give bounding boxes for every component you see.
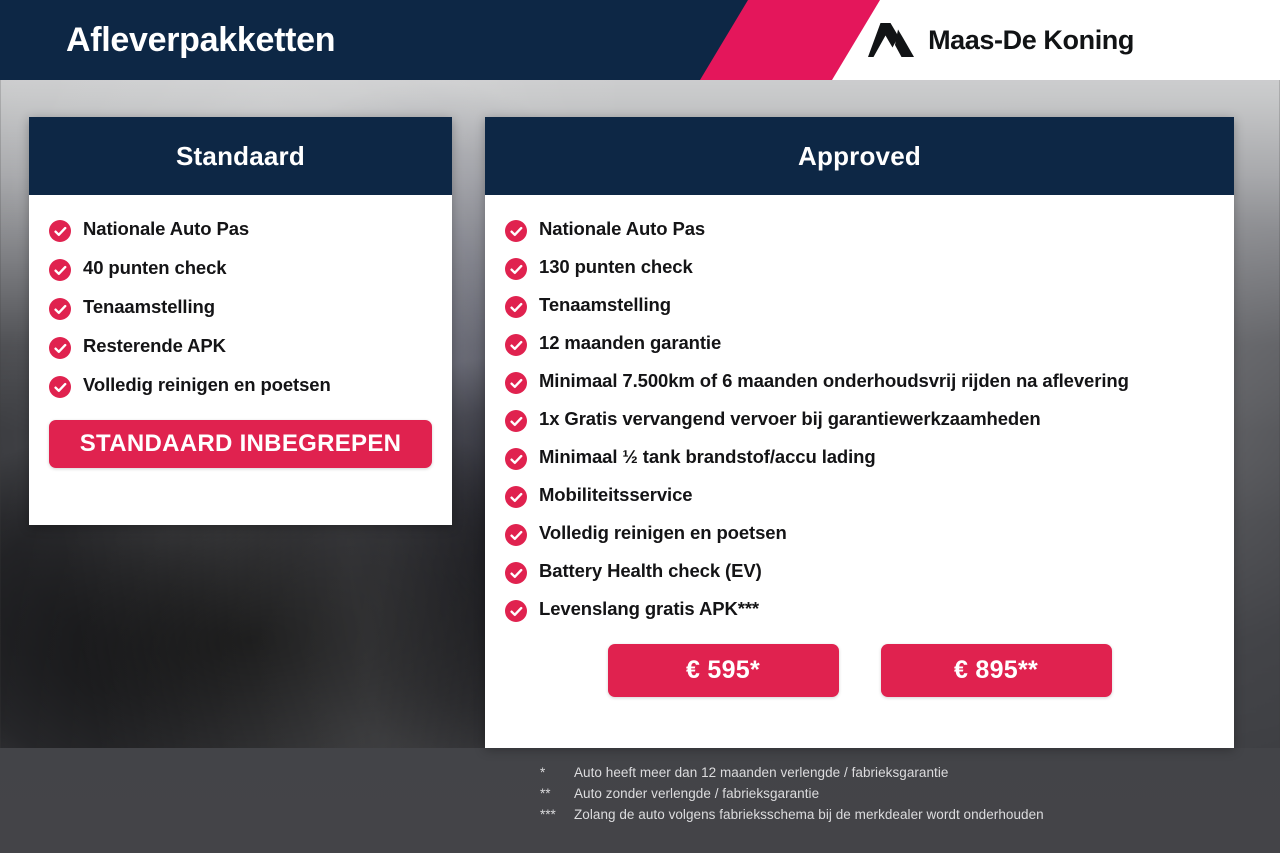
feature-item: 130 punten check: [505, 255, 1214, 280]
feature-item: 12 maanden garantie: [505, 331, 1214, 356]
feature-item: Mobiliteitsservice: [505, 483, 1214, 508]
check-circle-icon: [505, 220, 527, 242]
check-circle-icon: [505, 410, 527, 432]
footnote-text: Auto heeft meer dan 12 maanden verlengde…: [574, 765, 948, 782]
maas-de-koning-m-icon: [868, 23, 914, 57]
brand-name: Maas-De Koning: [928, 25, 1134, 56]
price-button-2[interactable]: € 895**: [881, 644, 1112, 697]
check-circle-icon: [49, 376, 71, 398]
feature-item: Nationale Auto Pas: [505, 217, 1214, 242]
check-circle-icon: [505, 524, 527, 546]
check-circle-icon: [505, 372, 527, 394]
check-circle-icon: [505, 486, 527, 508]
feature-label: Minimaal 7.500km of 6 maanden onderhouds…: [539, 369, 1129, 393]
feature-item: Levenslang gratis APK***: [505, 597, 1214, 622]
brand-logo: Maas-De Koning: [868, 0, 1134, 80]
check-circle-icon: [505, 448, 527, 470]
footnote-row: **Auto zonder verlengde / fabrieksgarant…: [540, 786, 1240, 803]
feature-item: Nationale Auto Pas: [49, 217, 432, 242]
feature-item: Tenaamstelling: [505, 293, 1214, 318]
feature-label: Tenaamstelling: [83, 295, 215, 319]
check-circle-icon: [505, 258, 527, 280]
footnote-text: Auto zonder verlengde / fabrieksgarantie: [574, 786, 819, 803]
footnote-block: *Auto heeft meer dan 12 maanden verlengd…: [540, 765, 1240, 828]
feature-label: 1x Gratis vervangend vervoer bij garanti…: [539, 407, 1041, 431]
feature-label: 130 punten check: [539, 255, 693, 279]
feature-label: Resterende APK: [83, 334, 226, 358]
card-title-standaard: Standaard: [29, 117, 452, 195]
package-card-approved: Approved Nationale Auto Pas130 punten ch…: [485, 117, 1234, 748]
check-circle-icon: [49, 259, 71, 281]
feature-label: 12 maanden garantie: [539, 331, 721, 355]
page-header: Afleverpakketten Maas-De Koning: [0, 0, 1280, 80]
feature-label: Levenslang gratis APK***: [539, 597, 759, 621]
feature-label: Battery Health check (EV): [539, 559, 762, 583]
card-body-approved: Nationale Auto Pas130 punten checkTenaam…: [485, 195, 1234, 697]
check-circle-icon: [505, 296, 527, 318]
feature-label: Volledig reinigen en poetsen: [539, 521, 787, 545]
feature-item: Battery Health check (EV): [505, 559, 1214, 584]
footnote-marker: **: [540, 786, 574, 803]
check-circle-icon: [49, 298, 71, 320]
poster-stage: Afleverpakketten Maas-De Koning Standaar…: [0, 0, 1280, 853]
feature-label: Tenaamstelling: [539, 293, 671, 317]
card-title-approved: Approved: [485, 117, 1234, 195]
feature-label: Volledig reinigen en poetsen: [83, 373, 331, 397]
check-circle-icon: [505, 600, 527, 622]
page-title: Afleverpakketten: [66, 0, 335, 80]
footnote-marker: *: [540, 765, 574, 782]
feature-label: 40 punten check: [83, 256, 226, 280]
feature-item: Minimaal 7.500km of 6 maanden onderhouds…: [505, 369, 1214, 394]
feature-item: 40 punten check: [49, 256, 432, 281]
feature-item: Resterende APK: [49, 334, 432, 359]
price-button-row: € 595*€ 895**: [505, 644, 1214, 697]
check-circle-icon: [505, 562, 527, 584]
footnote-marker: ***: [540, 807, 574, 824]
footnote-row: *Auto heeft meer dan 12 maanden verlengd…: [540, 765, 1240, 782]
feature-label: Minimaal ½ tank brandstof/accu lading: [539, 445, 876, 469]
feature-list-approved: Nationale Auto Pas130 punten checkTenaam…: [505, 217, 1214, 622]
feature-label: Mobiliteitsservice: [539, 483, 692, 507]
package-card-standaard: Standaard Nationale Auto Pas40 punten ch…: [29, 117, 452, 525]
feature-item: Tenaamstelling: [49, 295, 432, 320]
standaard-inbegrepen-button[interactable]: STANDAARD INBEGREPEN: [49, 420, 432, 468]
check-circle-icon: [505, 334, 527, 356]
feature-item: Volledig reinigen en poetsen: [49, 373, 432, 398]
feature-item: 1x Gratis vervangend vervoer bij garanti…: [505, 407, 1214, 432]
feature-item: Minimaal ½ tank brandstof/accu lading: [505, 445, 1214, 470]
check-circle-icon: [49, 220, 71, 242]
feature-label: Nationale Auto Pas: [539, 217, 705, 241]
footnote-row: ***Zolang de auto volgens fabrieksschema…: [540, 807, 1240, 824]
check-circle-icon: [49, 337, 71, 359]
card-body-standaard: Nationale Auto Pas40 punten checkTenaams…: [29, 195, 452, 468]
feature-list-standaard: Nationale Auto Pas40 punten checkTenaams…: [49, 217, 432, 398]
footnote-text: Zolang de auto volgens fabrieksschema bi…: [574, 807, 1044, 824]
price-button-1[interactable]: € 595*: [608, 644, 839, 697]
feature-item: Volledig reinigen en poetsen: [505, 521, 1214, 546]
feature-label: Nationale Auto Pas: [83, 217, 249, 241]
